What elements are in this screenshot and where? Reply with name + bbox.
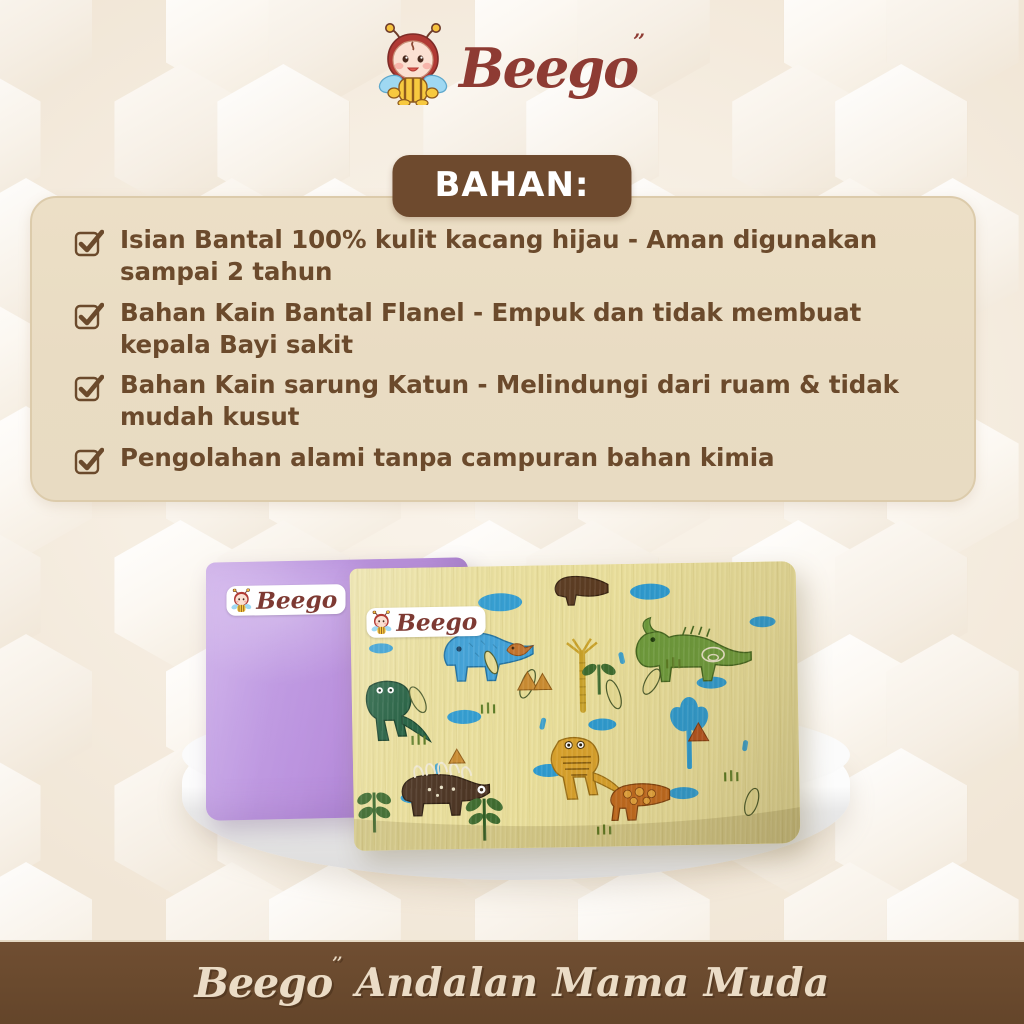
section-title-badge: BAHAN: [392, 155, 631, 217]
footer-bar: Beego’’ Andalan Mama Muda [0, 940, 1024, 1024]
benefit-text: Isian Bantal 100% kulit kacang hijau - A… [120, 224, 944, 288]
benefit-item: Bahan Kain Bantal Flanel - Empuk dan tid… [74, 297, 944, 361]
benefit-item: Pengolahan alami tanpa campuran bahan ki… [74, 442, 944, 477]
hexagon-tile [0, 520, 41, 670]
benefit-text: Bahan Kain Bantal Flanel - Empuk dan tid… [120, 297, 944, 361]
checkbox-checked-icon [74, 229, 104, 259]
yellow-dinosaur-pillow [350, 561, 801, 851]
dino-pillow-brand-tag: Beego [366, 606, 486, 638]
baby-bee-mascot-icon [377, 23, 449, 105]
hexagon-tile [0, 634, 92, 784]
tag-bee-mascot-icon [230, 588, 252, 613]
benefit-item: Isian Bantal 100% kulit kacang hijau - A… [74, 224, 944, 288]
hexagon-tile [0, 748, 41, 898]
tag-wordmark: Beego [256, 587, 337, 612]
footer-tagline: Andalan Mama Muda [355, 960, 829, 1006]
purple-pillow-brand-tag: Beego [226, 584, 345, 616]
benefits-card: Isian Bantal 100% kulit kacang hijau - A… [30, 196, 976, 502]
benefit-text: Bahan Kain sarung Katun - Melindungi dar… [120, 369, 944, 433]
benefit-text: Pengolahan alami tanpa campuran bahan ki… [120, 442, 775, 474]
hexagon-tile [887, 634, 1019, 784]
footer-logo: Beego’’ [194, 959, 341, 1007]
tag-wordmark: Beego [396, 609, 477, 634]
benefit-item: Bahan Kain sarung Katun - Melindungi dar… [74, 369, 944, 433]
checkbox-checked-icon [74, 374, 104, 404]
checkbox-checked-icon [74, 447, 104, 477]
brand-logo-header: Beego’’ [0, 14, 1024, 114]
hexagon-tile [835, 748, 967, 898]
benefits-list: Isian Bantal 100% kulit kacang hijau - A… [74, 224, 944, 477]
product-banner: Beego’’ BAHAN: Isian Bantal 100% kulit k… [0, 0, 1024, 1024]
tag-bee-mascot-icon [370, 610, 393, 635]
hexagon-tile [835, 520, 967, 670]
brand-wordmark: Beego’’ [459, 41, 647, 95]
dinosaur-print-pattern [350, 561, 801, 851]
checkbox-checked-icon [74, 302, 104, 332]
